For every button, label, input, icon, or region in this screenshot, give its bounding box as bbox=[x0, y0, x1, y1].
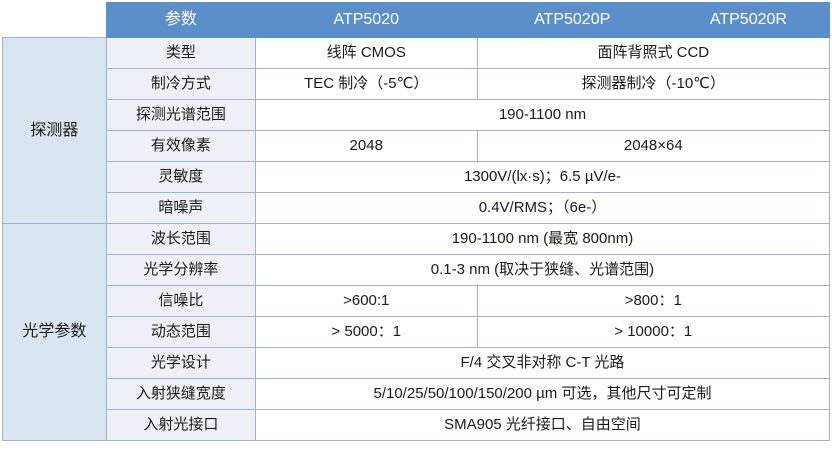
value-cell: 190-1100 nm (最宽 800nm) bbox=[255, 224, 829, 255]
value-cell: 5/10/25/50/100/150/200 µm 可选，其他尺寸可定制 bbox=[255, 379, 829, 410]
header-column-atp5020p: ATP5020P bbox=[477, 3, 667, 38]
param-name: 动态范围 bbox=[106, 317, 255, 348]
param-name: 信噪比 bbox=[106, 286, 255, 317]
header-column-atp5020: ATP5020 bbox=[255, 3, 477, 38]
value-cell: 0.1-3 nm (取决于狭缝、光谱范围) bbox=[255, 255, 829, 286]
value-cell: 190-1100 nm bbox=[255, 100, 829, 131]
value-cell: TEC 制冷（-5℃） bbox=[255, 69, 477, 100]
value-cell: 1300V/(lx·s)；6.5 µV/e- bbox=[255, 162, 829, 193]
value-cell: 面阵背照式 CCD bbox=[477, 38, 829, 69]
value-cell: F/4 交叉非对称 C-T 光路 bbox=[255, 348, 829, 379]
table-row: 暗噪声 0.4V/RMS；（6e-） bbox=[3, 193, 830, 224]
table-row: 入射光接口 SMA905 光纤接口、自由空间 bbox=[3, 410, 830, 441]
value-cell: 2048×64 bbox=[477, 131, 829, 162]
value-cell: >600:1 bbox=[255, 286, 477, 317]
table-row: 探测器 类型 线阵 CMOS 面阵背照式 CCD bbox=[3, 38, 830, 69]
table-row: 探测光谱范围 190-1100 nm bbox=[3, 100, 830, 131]
param-name: 制冷方式 bbox=[106, 69, 255, 100]
value-cell: >800：1 bbox=[477, 286, 829, 317]
table-row: 灵敏度 1300V/(lx·s)；6.5 µV/e- bbox=[3, 162, 830, 193]
table-body: 探测器 类型 线阵 CMOS 面阵背照式 CCD 制冷方式 TEC 制冷（-5℃… bbox=[3, 38, 830, 441]
header-blank-cell bbox=[3, 3, 107, 38]
table-row: 光学分辨率 0.1-3 nm (取决于狭缝、光谱范围) bbox=[3, 255, 830, 286]
value-cell: 2048 bbox=[255, 131, 477, 162]
param-name: 波长范围 bbox=[106, 224, 255, 255]
header-column-atp5020r: ATP5020R bbox=[667, 3, 829, 38]
table-row: 制冷方式 TEC 制冷（-5℃） 探测器制冷（-10℃） bbox=[3, 69, 830, 100]
param-name: 入射光接口 bbox=[106, 410, 255, 441]
table-row: 信噪比 >600:1 >800：1 bbox=[3, 286, 830, 317]
value-cell: 探测器制冷（-10℃） bbox=[477, 69, 829, 100]
param-name: 光学分辨率 bbox=[106, 255, 255, 286]
section-label-optical: 光学参数 bbox=[3, 224, 107, 441]
param-name: 暗噪声 bbox=[106, 193, 255, 224]
table-row: 光学设计 F/4 交叉非对称 C-T 光路 bbox=[3, 348, 830, 379]
specification-table: 参数 ATP5020 ATP5020P ATP5020R 探测器 类型 线阵 C… bbox=[2, 2, 830, 441]
value-cell: SMA905 光纤接口、自由空间 bbox=[255, 410, 829, 441]
param-name: 入射狭缝宽度 bbox=[106, 379, 255, 410]
param-name: 灵敏度 bbox=[106, 162, 255, 193]
table-row: 动态范围 > 5000：1 > 10000：1 bbox=[3, 317, 830, 348]
header-row: 参数 ATP5020 ATP5020P ATP5020R bbox=[3, 3, 830, 38]
value-cell: 0.4V/RMS；（6e-） bbox=[255, 193, 829, 224]
param-name: 有效像素 bbox=[106, 131, 255, 162]
param-name: 探测光谱范围 bbox=[106, 100, 255, 131]
table-row: 入射狭缝宽度 5/10/25/50/100/150/200 µm 可选，其他尺寸… bbox=[3, 379, 830, 410]
header-parameter-label: 参数 bbox=[106, 3, 255, 38]
table-row: 有效像素 2048 2048×64 bbox=[3, 131, 830, 162]
value-cell: > 5000：1 bbox=[255, 317, 477, 348]
value-cell: 线阵 CMOS bbox=[255, 38, 477, 69]
param-name: 类型 bbox=[106, 38, 255, 69]
table-header: 参数 ATP5020 ATP5020P ATP5020R bbox=[3, 3, 830, 38]
section-label-detector: 探测器 bbox=[3, 38, 107, 224]
param-name: 光学设计 bbox=[106, 348, 255, 379]
table-row: 光学参数 波长范围 190-1100 nm (最宽 800nm) bbox=[3, 224, 830, 255]
value-cell: > 10000：1 bbox=[477, 317, 829, 348]
